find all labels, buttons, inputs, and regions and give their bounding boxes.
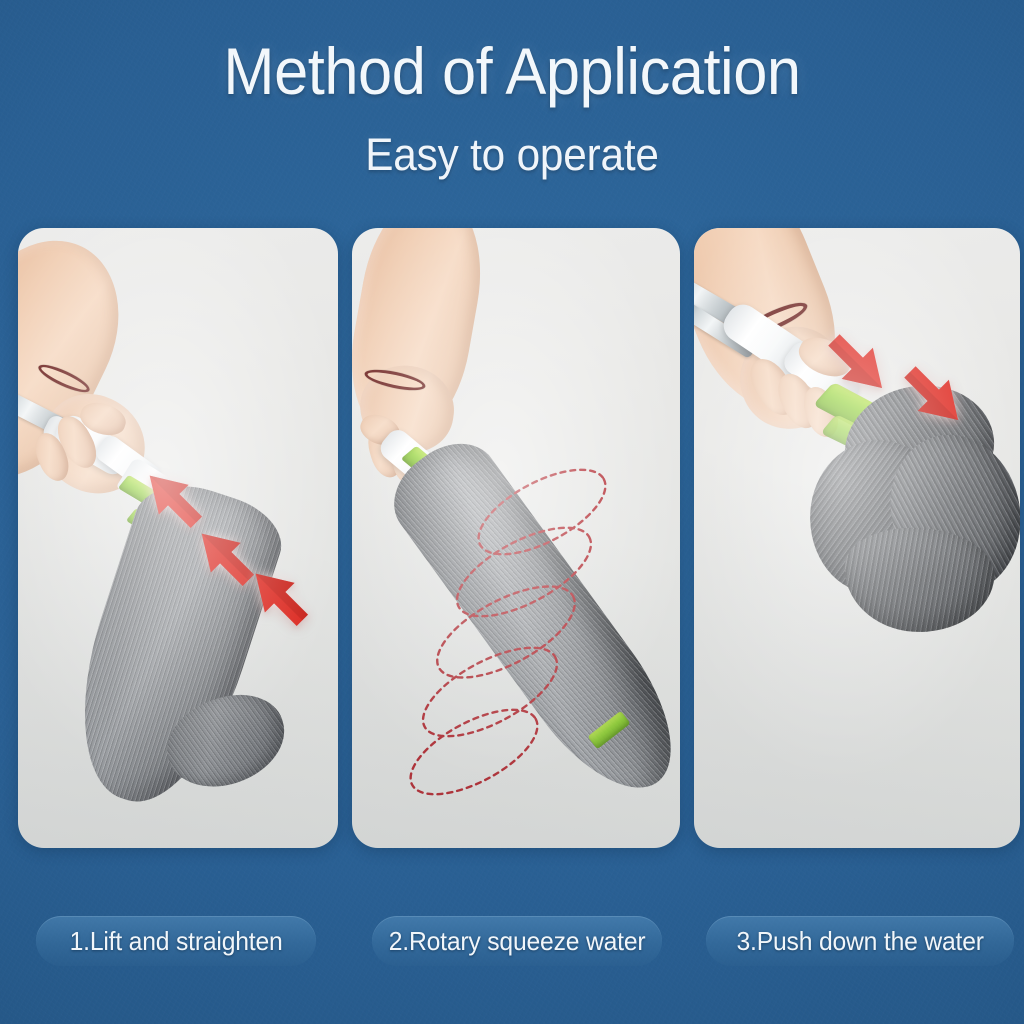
page-subtitle: Easy to operate <box>31 104 994 177</box>
rotation-spiral <box>374 440 674 848</box>
caption-badge-step-2: 2.Rotary squeeze water <box>372 916 662 966</box>
arrow-down-right-2 <box>894 356 974 436</box>
caption-badge-step-1: 1.Lift and straighten <box>36 916 316 966</box>
panel-1-photo <box>18 228 338 848</box>
panel-3-photo <box>694 228 1020 848</box>
panel-lift-and-straighten <box>18 228 338 848</box>
caption-label-step-3: 3.Push down the water <box>736 926 983 957</box>
caption-badge-step-3: 3.Push down the water <box>706 916 1014 966</box>
step-captions: 1.Lift and straighten 2.Rotary squeeze w… <box>0 916 1024 976</box>
arrow-down-right-1 <box>818 324 898 404</box>
caption-label-step-1: 1.Lift and straighten <box>70 926 283 957</box>
panel-push-down-the-water <box>694 228 1020 848</box>
page-title: Method of Application <box>36 0 988 104</box>
panel-rotary-squeeze-water <box>352 228 680 848</box>
header: Method of Application Easy to operate <box>0 0 1024 177</box>
arrow-up-left-3 <box>240 558 318 636</box>
steps-panel-row <box>18 228 1020 848</box>
caption-label-step-2: 2.Rotary squeeze water <box>389 926 646 957</box>
panel-2-photo <box>352 228 680 848</box>
